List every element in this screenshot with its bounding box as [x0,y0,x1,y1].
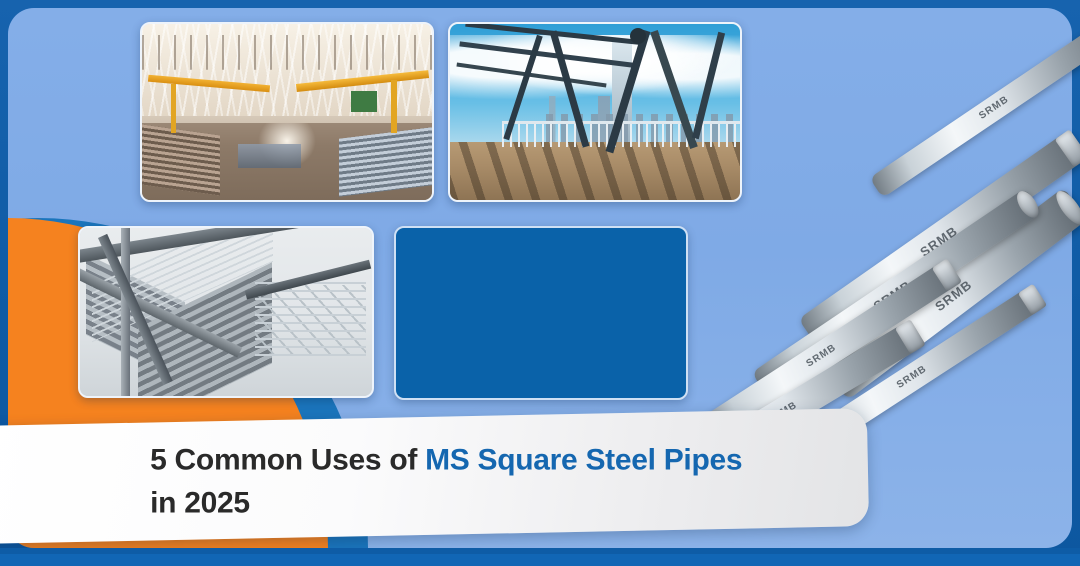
blue-placeholder-block [394,226,688,400]
steel-staircase-photo [78,226,374,398]
title-banner: 5 Common Uses of MS Square Steel Pipes i… [0,408,869,544]
blog-banner: SRMB SRMB SRMB SRMB SRMB SRMB SRMB [0,0,1080,566]
bottom-band [0,548,1080,566]
title-line1-plain: 5 Common Uses of [150,443,425,476]
title-line1-highlight: MS Square Steel Pipes [425,443,742,476]
title-line2: in 2025 [150,486,250,519]
steel-warehouse-photo [140,22,434,202]
page-title: 5 Common Uses of MS Square Steel Pipes i… [150,439,850,524]
bridge-illustration [450,24,740,200]
steel-truss-bridge-photo [448,22,742,202]
bottom-band-inner [0,554,1080,566]
staircase-illustration [80,228,372,396]
warehouse-illustration [142,24,432,200]
